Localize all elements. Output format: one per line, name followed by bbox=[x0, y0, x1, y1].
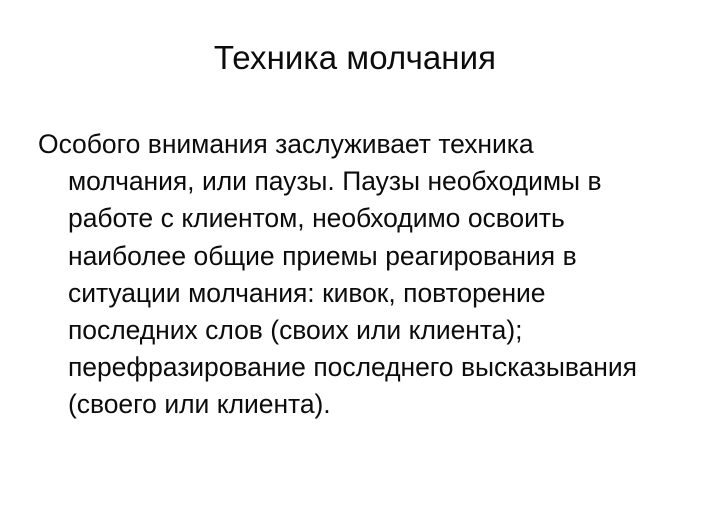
slide-title: Техника молчания bbox=[0, 38, 710, 78]
slide-body-textbox: Особого внимания заслуживает техника мол… bbox=[38, 126, 662, 424]
body-paragraph: Особого внимания заслуживает техника мол… bbox=[38, 126, 662, 424]
presentation-slide: Техника молчания Особого внимания заслуж… bbox=[0, 0, 710, 531]
